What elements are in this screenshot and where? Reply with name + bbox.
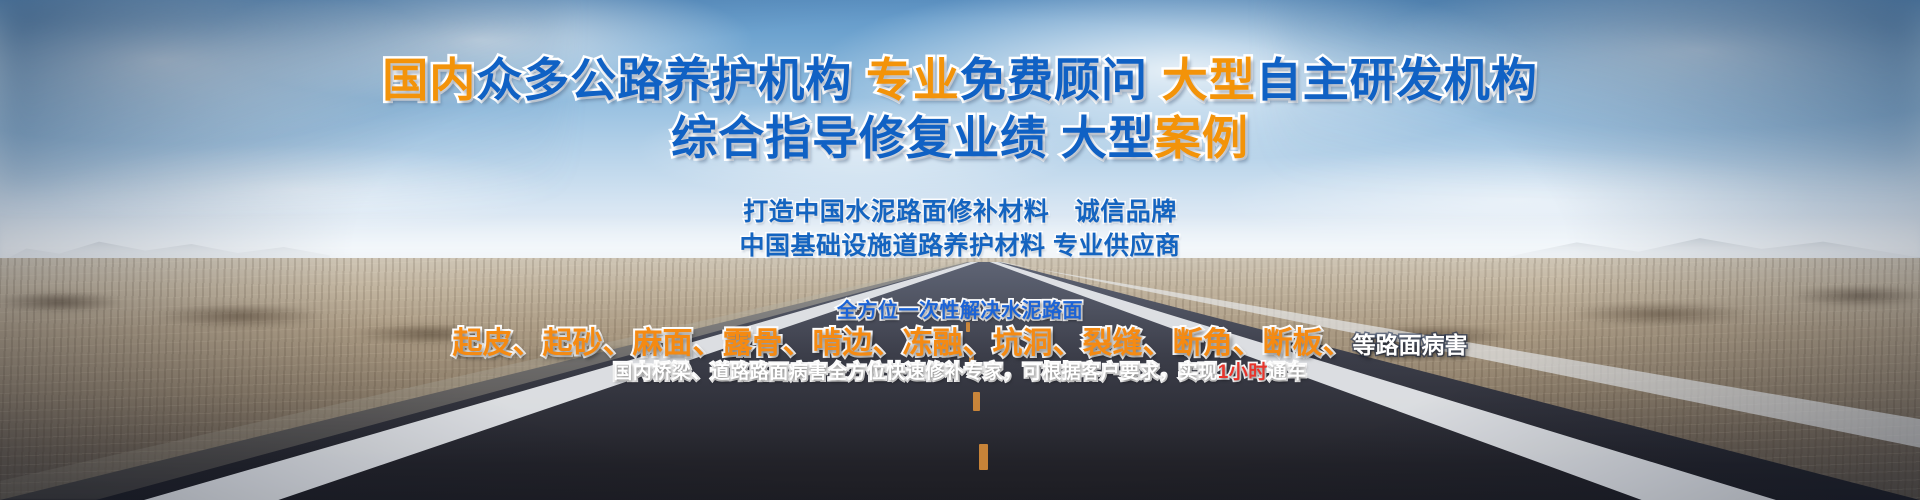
subhead-line-2: 中国基础设施道路养护材料 专业供应商 — [740, 226, 1181, 262]
disease-keyword-row: 起皮、起砂、麻面、露骨、啃边、冻融、坑洞、裂缝、断角、断板、等路面病害 — [453, 318, 1468, 362]
headline-1-seg-6: 自主研发机构 — [1256, 54, 1538, 106]
headline-2-seg-2: 大型 — [1061, 112, 1155, 164]
headline-2-seg-1: 综合指导修复业绩 — [671, 112, 1047, 164]
bottom-3-pre: 国内桥梁、道路路面病害全方位快速修补专家，可根据客户要求，实现 — [613, 362, 1218, 383]
headline-1-gap-1 — [852, 54, 866, 106]
subhead-line-1: 打造中国水泥路面修补材料 诚信品牌 — [743, 192, 1177, 228]
banner-text-layer: 国内众多公路养护机构 专业免费顾问 大型自主研发机构 综合指导修复业绩 大型案例… — [0, 0, 1920, 500]
promo-banner: 国内众多公路养护机构 专业免费顾问 大型自主研发机构 综合指导修复业绩 大型案例… — [0, 0, 1920, 500]
headline-line-2: 综合指导修复业绩 大型案例 — [671, 102, 1249, 168]
disease-list: 起皮、起砂、麻面、露骨、啃边、冻融、坑洞、裂缝、断角、断板、 — [453, 327, 1353, 360]
disease-tail: 等路面病害 — [1353, 332, 1468, 358]
headline-1-gap-2 — [1148, 54, 1162, 106]
headline-1-seg-3: 专业 — [866, 54, 960, 106]
headline-1-seg-5: 大型 — [1162, 54, 1256, 106]
bottom-line-3: 国内桥梁、道路路面病害全方位快速修补专家，可根据客户要求，实现1小时通车 — [613, 357, 1307, 384]
headline-2-gap-1 — [1047, 112, 1061, 164]
bottom-3-highlight: 1小时 — [1218, 362, 1268, 383]
headline-1-seg-1: 国内 — [382, 54, 476, 106]
headline-line-1: 国内众多公路养护机构 专业免费顾问 大型自主研发机构 — [382, 44, 1538, 110]
headline-1-seg-4: 免费顾问 — [960, 54, 1148, 106]
headline-2-seg-3: 案例 — [1155, 112, 1249, 164]
bottom-3-post: 通车 — [1268, 362, 1307, 383]
headline-1-seg-2: 众多公路养护机构 — [476, 54, 852, 106]
